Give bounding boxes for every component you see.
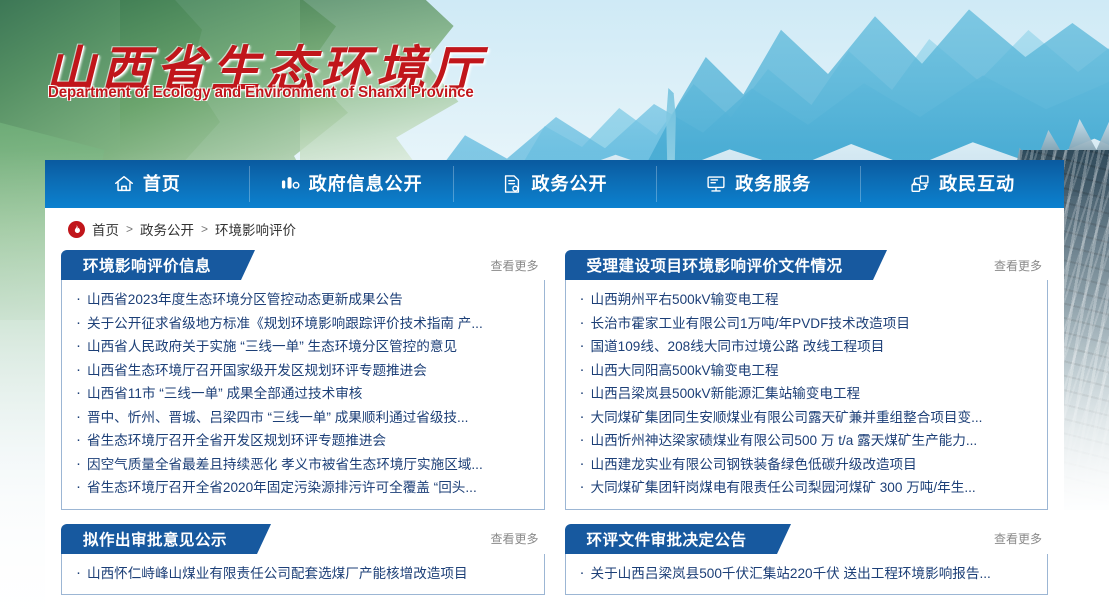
panel-body: 山西怀仁峙峰山煤业有限责任公司配套选煤厂产能核增改造项目 <box>61 554 545 596</box>
panel-accepted-eia-documents: 受理建设项目环境影响评价文件情况 查看更多 山西朔州平右500kV输变电工程 长… <box>565 250 1049 510</box>
list-item[interactable]: 山西省人民政府关于实施 “三线一单” 生态环境分区管控的意见 <box>74 335 532 359</box>
site-banner: 山西省生态环境厅 Department of Ecology and Envir… <box>0 0 1109 152</box>
view-more-link[interactable]: 查看更多 <box>994 530 1048 547</box>
list-item[interactable]: 大同煤矿集团轩岗煤电有限责任公司梨园河煤矿 300 万吨/年生... <box>578 476 1036 500</box>
interaction-icon <box>909 173 931 195</box>
news-list: 关于山西吕梁岚县500千伏汇集站220千伏 送出工程环境影响报告... <box>578 562 1036 586</box>
list-item[interactable]: 晋中、忻州、晋城、吕梁四市 “三线一单” 成果顺利通过省级技... <box>74 406 532 430</box>
breadcrumb-separator-1: > <box>126 222 133 236</box>
list-item[interactable]: 山西省生态环境厅召开国家级开发区规划环评专题推进会 <box>74 359 532 383</box>
nav-item-affairs-service[interactable]: 政务服务 <box>656 160 860 208</box>
panel-approval-decision-announcement: 环评文件审批决定公告 查看更多 关于山西吕梁岚县500千伏汇集站220千伏 送出… <box>565 524 1049 596</box>
list-item[interactable]: 省生态环境厅召开全省2020年固定污染源排污许可全覆盖 “回头... <box>74 476 532 500</box>
monitor-icon <box>705 173 727 195</box>
view-more-link[interactable]: 查看更多 <box>994 257 1048 274</box>
nav-item-government-info[interactable]: 政府信息公开 <box>249 160 453 208</box>
breadcrumb-item-eia[interactable]: 环境影响评价 <box>215 219 296 239</box>
breadcrumb: 首页 > 政务公开 > 环境影响评价 <box>59 208 1050 250</box>
list-item[interactable]: 省生态环境厅召开全省开发区规划环评专题推进会 <box>74 429 532 453</box>
list-item[interactable]: 山西省2023年度生态环境分区管控动态更新成果公告 <box>74 288 532 312</box>
panel-grid: 环境影响评价信息 查看更多 山西省2023年度生态环境分区管控动态更新成果公告 … <box>59 250 1050 609</box>
list-item[interactable]: 关于山西吕梁岚县500千伏汇集站220千伏 送出工程环境影响报告... <box>578 562 1036 586</box>
nav-item-home[interactable]: 首页 <box>45 160 249 208</box>
panel-title: 受理建设项目环境影响评价文件情况 <box>565 250 873 280</box>
breadcrumb-separator-2: > <box>201 222 208 236</box>
news-list: 山西省2023年度生态环境分区管控动态更新成果公告 关于公开征求省级地方标准《规… <box>74 288 532 500</box>
view-more-link[interactable]: 查看更多 <box>490 530 544 547</box>
list-item[interactable]: 因空气质量全省最差且持续恶化 孝义市被省生态环境厅实施区域... <box>74 453 532 477</box>
panel-header: 受理建设项目环境影响评价文件情况 查看更多 <box>565 250 1049 280</box>
panel-title: 环境影响评价信息 <box>61 250 241 280</box>
main-navigation[interactable]: 首页 政府信息公开 政务公开 <box>45 160 1064 208</box>
list-item[interactable]: 山西忻州神达梁家碛煤业有限公司500 万 t/a 露天煤矿生产能力... <box>578 429 1036 453</box>
nav-item-affairs-disclosure[interactable]: 政务公开 <box>453 160 657 208</box>
panel-body: 关于山西吕梁岚县500千伏汇集站220千伏 送出工程环境影响报告... <box>565 554 1049 596</box>
list-item[interactable]: 关于公开征求省级地方标准《规划环境影响跟踪评价技术指南 产... <box>74 312 532 336</box>
list-item[interactable]: 山西怀仁峙峰山煤业有限责任公司配套选煤厂产能核增改造项目 <box>74 562 532 586</box>
content-card: 首页 > 政务公开 > 环境影响评价 环境影响评价信息 查看更多 山西省2023… <box>45 208 1064 609</box>
news-list: 山西朔州平右500kV输变电工程 长治市霍家工业有限公司1万吨/年PVDF技术改… <box>578 288 1036 500</box>
panel-proposed-approval-notice: 拟作出审批意见公示 查看更多 山西怀仁峙峰山煤业有限责任公司配套选煤厂产能核增改… <box>61 524 545 596</box>
view-more-link[interactable]: 查看更多 <box>490 257 544 274</box>
panel-body: 山西省2023年度生态环境分区管控动态更新成果公告 关于公开征求省级地方标准《规… <box>61 280 545 510</box>
home-flame-icon[interactable] <box>68 221 85 238</box>
site-title-english: Department of Ecology and Environment of… <box>48 84 474 102</box>
panel-eia-information: 环境影响评价信息 查看更多 山西省2023年度生态环境分区管控动态更新成果公告 … <box>61 250 545 510</box>
nav-label-government-info: 政府信息公开 <box>309 175 423 193</box>
nav-item-public-interaction[interactable]: 政民互动 <box>860 160 1064 208</box>
nav-label-public-interaction: 政民互动 <box>939 175 1015 193</box>
list-item[interactable]: 山西吕梁岚县500kV新能源汇集站输变电工程 <box>578 382 1036 406</box>
document-icon <box>501 173 523 195</box>
bar-chart-icon <box>279 173 301 195</box>
list-item[interactable]: 山西大同阳高500kV输变电工程 <box>578 359 1036 383</box>
list-item[interactable]: 山西建龙实业有限公司钢铁装备绿色低碳升级改造项目 <box>578 453 1036 477</box>
nav-label-affairs-disclosure: 政务公开 <box>531 175 607 193</box>
home-icon <box>113 173 135 195</box>
nav-label-affairs-service: 政务服务 <box>735 175 811 193</box>
list-item[interactable]: 大同煤矿集团同生安顺煤业有限公司露天矿兼并重组整合项目变... <box>578 406 1036 430</box>
panel-title: 环评文件审批决定公告 <box>565 524 777 554</box>
panel-header: 环境影响评价信息 查看更多 <box>61 250 545 280</box>
breadcrumb-item-affairs-disclosure[interactable]: 政务公开 <box>140 219 194 239</box>
news-list: 山西怀仁峙峰山煤业有限责任公司配套选煤厂产能核增改造项目 <box>74 562 532 586</box>
panel-body: 山西朔州平右500kV输变电工程 长治市霍家工业有限公司1万吨/年PVDF技术改… <box>565 280 1049 510</box>
list-item[interactable]: 长治市霍家工业有限公司1万吨/年PVDF技术改造项目 <box>578 312 1036 336</box>
panel-title: 拟作出审批意见公示 <box>61 524 257 554</box>
list-item[interactable]: 山西省11市 “三线一单” 成果全部通过技术审核 <box>74 382 532 406</box>
nav-label-home: 首页 <box>143 175 181 193</box>
panel-header: 环评文件审批决定公告 查看更多 <box>565 524 1049 554</box>
list-item[interactable]: 山西朔州平右500kV输变电工程 <box>578 288 1036 312</box>
list-item[interactable]: 国道109线、208线大同市过境公路 改线工程项目 <box>578 335 1036 359</box>
breadcrumb-item-home[interactable]: 首页 <box>92 219 119 239</box>
panel-header: 拟作出审批意见公示 查看更多 <box>61 524 545 554</box>
